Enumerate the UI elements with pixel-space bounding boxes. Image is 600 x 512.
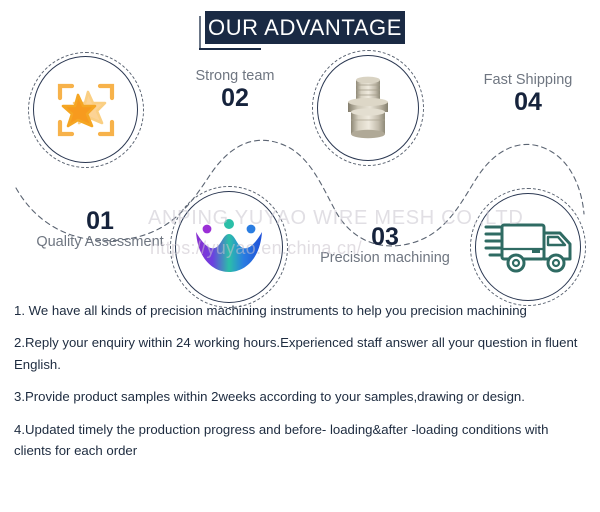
step-number-4: 04 xyxy=(448,89,600,115)
step-caption-3: Precision machining xyxy=(290,250,480,267)
advantage-item-3: 3.Provide product samples within 2weeks … xyxy=(14,386,584,407)
advantage-description-list: 1. We have all kinds of precision machin… xyxy=(14,300,584,472)
advantage-item-4: 4.Updated timely the production progress… xyxy=(14,419,584,462)
step-caption-2: Strong team xyxy=(160,68,310,85)
step-node-1 xyxy=(28,52,144,168)
step-node-3 xyxy=(312,50,424,166)
title-decor-vertical-line xyxy=(199,16,201,50)
page-title-banner: OUR ADVANTAGE xyxy=(205,11,405,44)
delivery-truck-icon xyxy=(484,218,576,276)
step-number-3: 03 xyxy=(290,224,480,250)
advantage-infographic: OUR ADVANTAGE 01 Quality Assessment xyxy=(0,0,600,512)
team-people-icon xyxy=(192,214,266,276)
step-node-4 xyxy=(470,188,586,306)
page-title: OUR ADVANTAGE xyxy=(208,15,402,41)
page-title-area: OUR ADVANTAGE xyxy=(0,0,600,58)
advantage-item-2: 2.Reply your enquiry within 24 working h… xyxy=(14,332,584,375)
step-label-3: 03 Precision machining xyxy=(290,224,480,268)
step-node-2 xyxy=(170,186,288,308)
machined-fitting-icon xyxy=(338,72,398,144)
step-caption-4: Fast Shipping xyxy=(448,72,600,89)
step-label-4: Fast Shipping 04 xyxy=(448,72,600,116)
stars-frame-icon xyxy=(50,74,122,146)
title-decor-horizontal-line xyxy=(199,48,261,50)
step-label-2: Strong team 02 xyxy=(160,68,310,112)
advantage-item-1: 1. We have all kinds of precision machin… xyxy=(14,300,584,321)
step-number-2: 02 xyxy=(160,85,310,111)
